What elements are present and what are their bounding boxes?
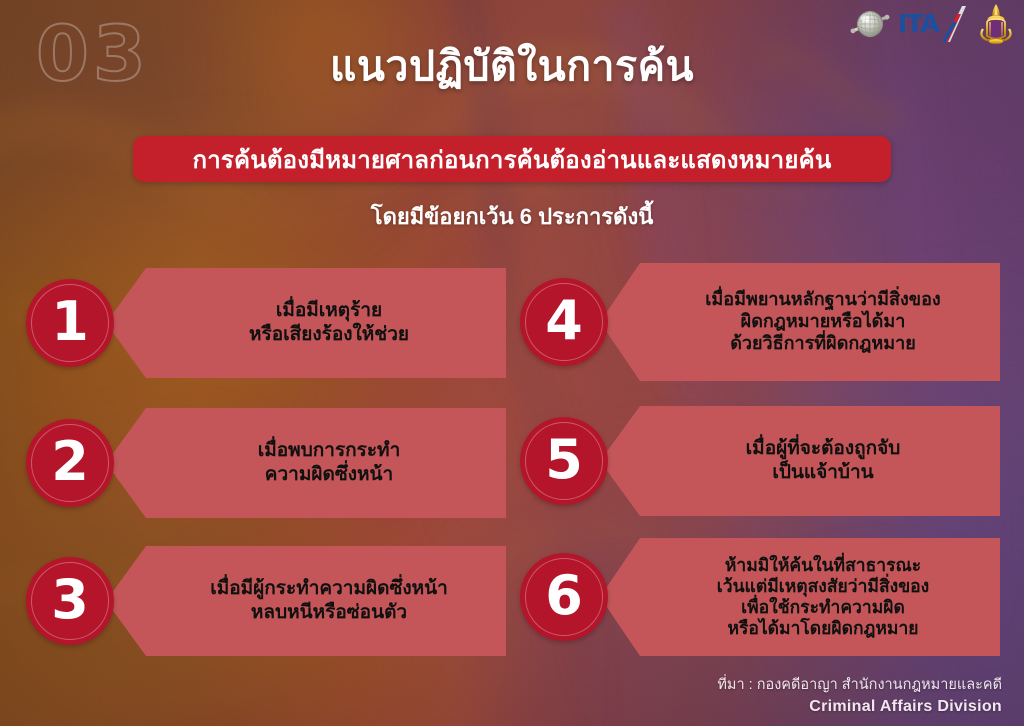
item-number: 5: [545, 433, 583, 487]
list-item: 2 เมื่อพบการกระทำ ความผิดซึ่งหน้า: [26, 398, 506, 528]
footer: ที่มา : กองคดีอาญา สำนักงานกฎหมายและคดี …: [717, 675, 1002, 718]
item-number-badge: 1: [26, 279, 114, 367]
item-label: ห้ามมิให้ค้นในที่สาธารณะ เว้นแต่มีเหตุสง…: [717, 555, 929, 639]
item-arrow-panel: เมื่อผู้ที่จะต้องถูกจับ เป็นแจ้าบ้าน: [600, 406, 1000, 516]
item-label: เมื่อมีเหตุร้าย หรือเสียงร้องให้ช่วย: [249, 299, 409, 348]
item-number-badge: 5: [520, 417, 608, 505]
item-number: 3: [51, 573, 89, 627]
list-item: 4 เมื่อมีพยานหลักฐานว่ามีสิ่งของ ผิดกฎหม…: [520, 256, 1000, 388]
item-arrow-panel: เมื่อมีผู้กระทำความผิดซึ่งหน้า หลบหนีหรื…: [106, 546, 506, 656]
item-label: เมื่อมีผู้กระทำความผิดซึ่งหน้า หลบหนีหรื…: [210, 577, 448, 626]
item-number-badge: 2: [26, 419, 114, 507]
list-item: 1 เมื่อมีเหตุร้าย หรือเสียงร้องให้ช่วย: [26, 258, 506, 388]
item-label: เมื่อพบการกระทำ ความผิดซึ่งหน้า: [258, 439, 401, 488]
item-label: เมื่อมีพยานหลักฐานว่ามีสิ่งของ ผิดกฎหมาย…: [705, 289, 940, 355]
item-number-badge: 4: [520, 278, 608, 366]
item-arrow-panel: เมื่อพบการกระทำ ความผิดซึ่งหน้า: [106, 408, 506, 518]
item-number: 2: [51, 435, 89, 489]
item-arrow-panel: เมื่อมีพยานหลักฐานว่ามีสิ่งของ ผิดกฎหมาย…: [600, 263, 1000, 381]
item-number: 6: [545, 569, 583, 623]
item-number-badge: 3: [26, 557, 114, 645]
exception-list: 1 เมื่อมีเหตุร้าย หรือเสียงร้องให้ช่วย 2…: [0, 258, 1024, 658]
item-arrow-panel: ห้ามมิให้ค้นในที่สาธารณะ เว้นแต่มีเหตุสง…: [600, 538, 1000, 656]
item-arrow-panel: เมื่อมีเหตุร้าย หรือเสียงร้องให้ช่วย: [106, 268, 506, 378]
item-number: 4: [545, 294, 583, 348]
footer-source: ที่มา : กองคดีอาญา สำนักงานกฎหมายและคดี: [717, 675, 1002, 696]
page-title: แนวปฏิบัติในการค้น: [0, 34, 1024, 99]
headline-banner: การค้นต้องมีหมายศาลก่อนการค้นต้องอ่านและ…: [133, 136, 891, 182]
headline-banner-text: การค้นต้องมีหมายศาลก่อนการค้นต้องอ่านและ…: [193, 140, 832, 179]
list-item: 5 เมื่อผู้ที่จะต้องถูกจับ เป็นแจ้าบ้าน: [520, 396, 1000, 526]
item-number: 1: [51, 295, 89, 349]
item-number-badge: 6: [520, 553, 608, 641]
list-item: 6 ห้ามมิให้ค้นในที่สาธารณะ เว้นแต่มีเหตุ…: [520, 530, 1000, 664]
footer-division-en: Criminal Affairs Division: [717, 696, 1002, 718]
list-item: 3 เมื่อมีผู้กระทำความผิดซึ่งหน้า หลบหนีห…: [26, 536, 506, 666]
subheadline: โดยมีข้อยกเว้น 6 ประการดังนี้: [0, 199, 1024, 234]
item-label: เมื่อผู้ที่จะต้องถูกจับ เป็นแจ้าบ้าน: [746, 437, 901, 486]
